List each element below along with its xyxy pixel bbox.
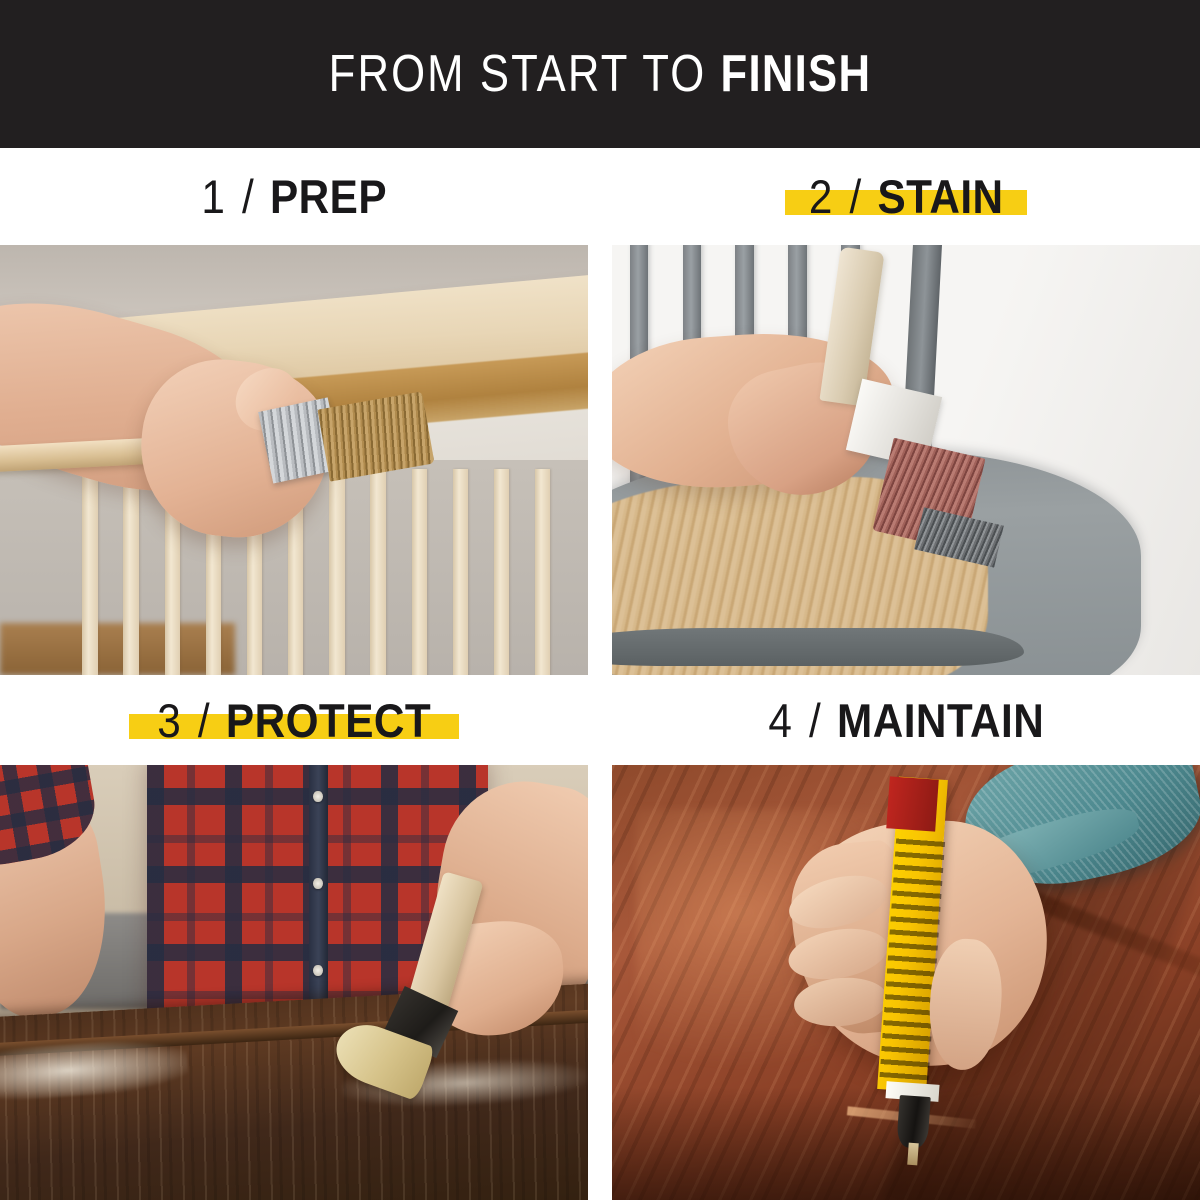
step-number-4: 4 — [768, 694, 793, 747]
page-title-bold: FINISH — [721, 45, 872, 103]
step-separator-3: / — [195, 694, 213, 747]
step-card-4[interactable]: 4 / MAINTAIN — [612, 675, 1200, 1200]
page-title-light: FROM START TO — [329, 45, 707, 103]
step-label-1: 1 / PREP — [0, 148, 588, 245]
steps-row-top: 1 / PREP — [0, 148, 1200, 675]
photo-prep-brushing-raw-wood-bench — [0, 245, 588, 675]
step-number-2: 2 — [809, 170, 834, 223]
step-card-1[interactable]: 1 / PREP — [0, 148, 588, 675]
step-separator-4: / — [806, 694, 824, 747]
step-word-1: PREP — [270, 170, 387, 223]
step-number-3: 3 — [157, 694, 182, 747]
step-card-2[interactable]: 2 / STAIN — [612, 148, 1200, 675]
step-separator-1: / — [239, 170, 257, 223]
step-card-3[interactable]: 3 / PROTECT — [0, 675, 588, 1200]
step-separator-2: / — [847, 170, 865, 223]
header-band: FROM START TO FINISH — [0, 0, 1200, 148]
page-title: FROM START TO FINISH — [329, 48, 872, 100]
photo-stain-brushing-chair-seat — [612, 245, 1200, 675]
steps-row-bottom: 3 / PROTECT — [0, 675, 1200, 1200]
step-label-3: 3 / PROTECT — [0, 675, 588, 765]
step-word-3: PROTECT — [226, 694, 431, 747]
step-label-4: 4 / MAINTAIN — [612, 675, 1200, 765]
photo-maintain-touch-up-marker — [612, 765, 1200, 1200]
step-word-2: STAIN — [877, 170, 1003, 223]
step-number-1: 1 — [201, 170, 226, 223]
infographic-page: FROM START TO FINISH 1 / PREP — [0, 0, 1200, 1200]
step-word-4: MAINTAIN — [837, 694, 1044, 747]
photo-protect-clear-coat-table — [0, 765, 588, 1200]
step-label-2: 2 / STAIN — [612, 148, 1200, 245]
